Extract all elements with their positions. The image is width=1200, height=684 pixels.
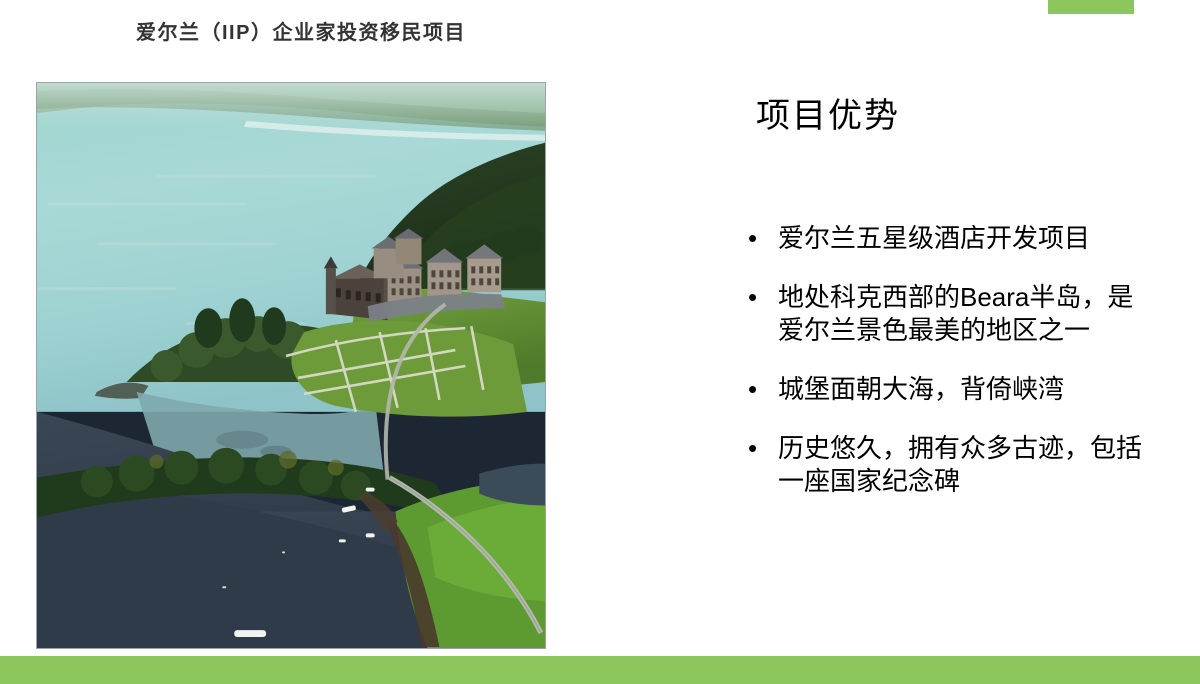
list-item-text: 历史悠久，拥有众多古迹，包括一座国家纪念碑: [778, 432, 1144, 498]
list-item-text: 爱尔兰五星级酒店开发项目: [778, 222, 1144, 255]
list-item: • 历史悠久，拥有众多古迹，包括一座国家纪念碑: [744, 432, 1144, 498]
bullet-dot-icon: •: [744, 373, 778, 406]
bottom-accent-band: [0, 656, 1200, 684]
slide: 爱尔兰（IIP）企业家投资移民项目: [0, 0, 1200, 684]
aerial-castle-photo: [37, 83, 545, 648]
bullet-dot-icon: •: [744, 432, 778, 465]
advantages-bullet-list: • 爱尔兰五星级酒店开发项目 • 地处科克西部的Beara半岛，是爱尔兰景色最美…: [744, 222, 1144, 524]
list-item-text: 地处科克西部的Beara半岛，是爱尔兰景色最美的地区之一: [778, 281, 1144, 347]
photo-frame: [36, 82, 546, 649]
top-accent-bar: [1048, 0, 1134, 14]
bullet-dot-icon: •: [744, 222, 778, 255]
slide-header-title: 爱尔兰（IIP）企业家投资移民项目: [136, 16, 466, 45]
list-item: • 城堡面朝大海，背倚峡湾: [744, 373, 1144, 406]
bullet-dot-icon: •: [744, 281, 778, 314]
list-item-text: 城堡面朝大海，背倚峡湾: [778, 373, 1144, 406]
list-item: • 爱尔兰五星级酒店开发项目: [744, 222, 1144, 255]
content-title: 项目优势: [756, 88, 900, 137]
list-item: • 地处科克西部的Beara半岛，是爱尔兰景色最美的地区之一: [744, 281, 1144, 347]
